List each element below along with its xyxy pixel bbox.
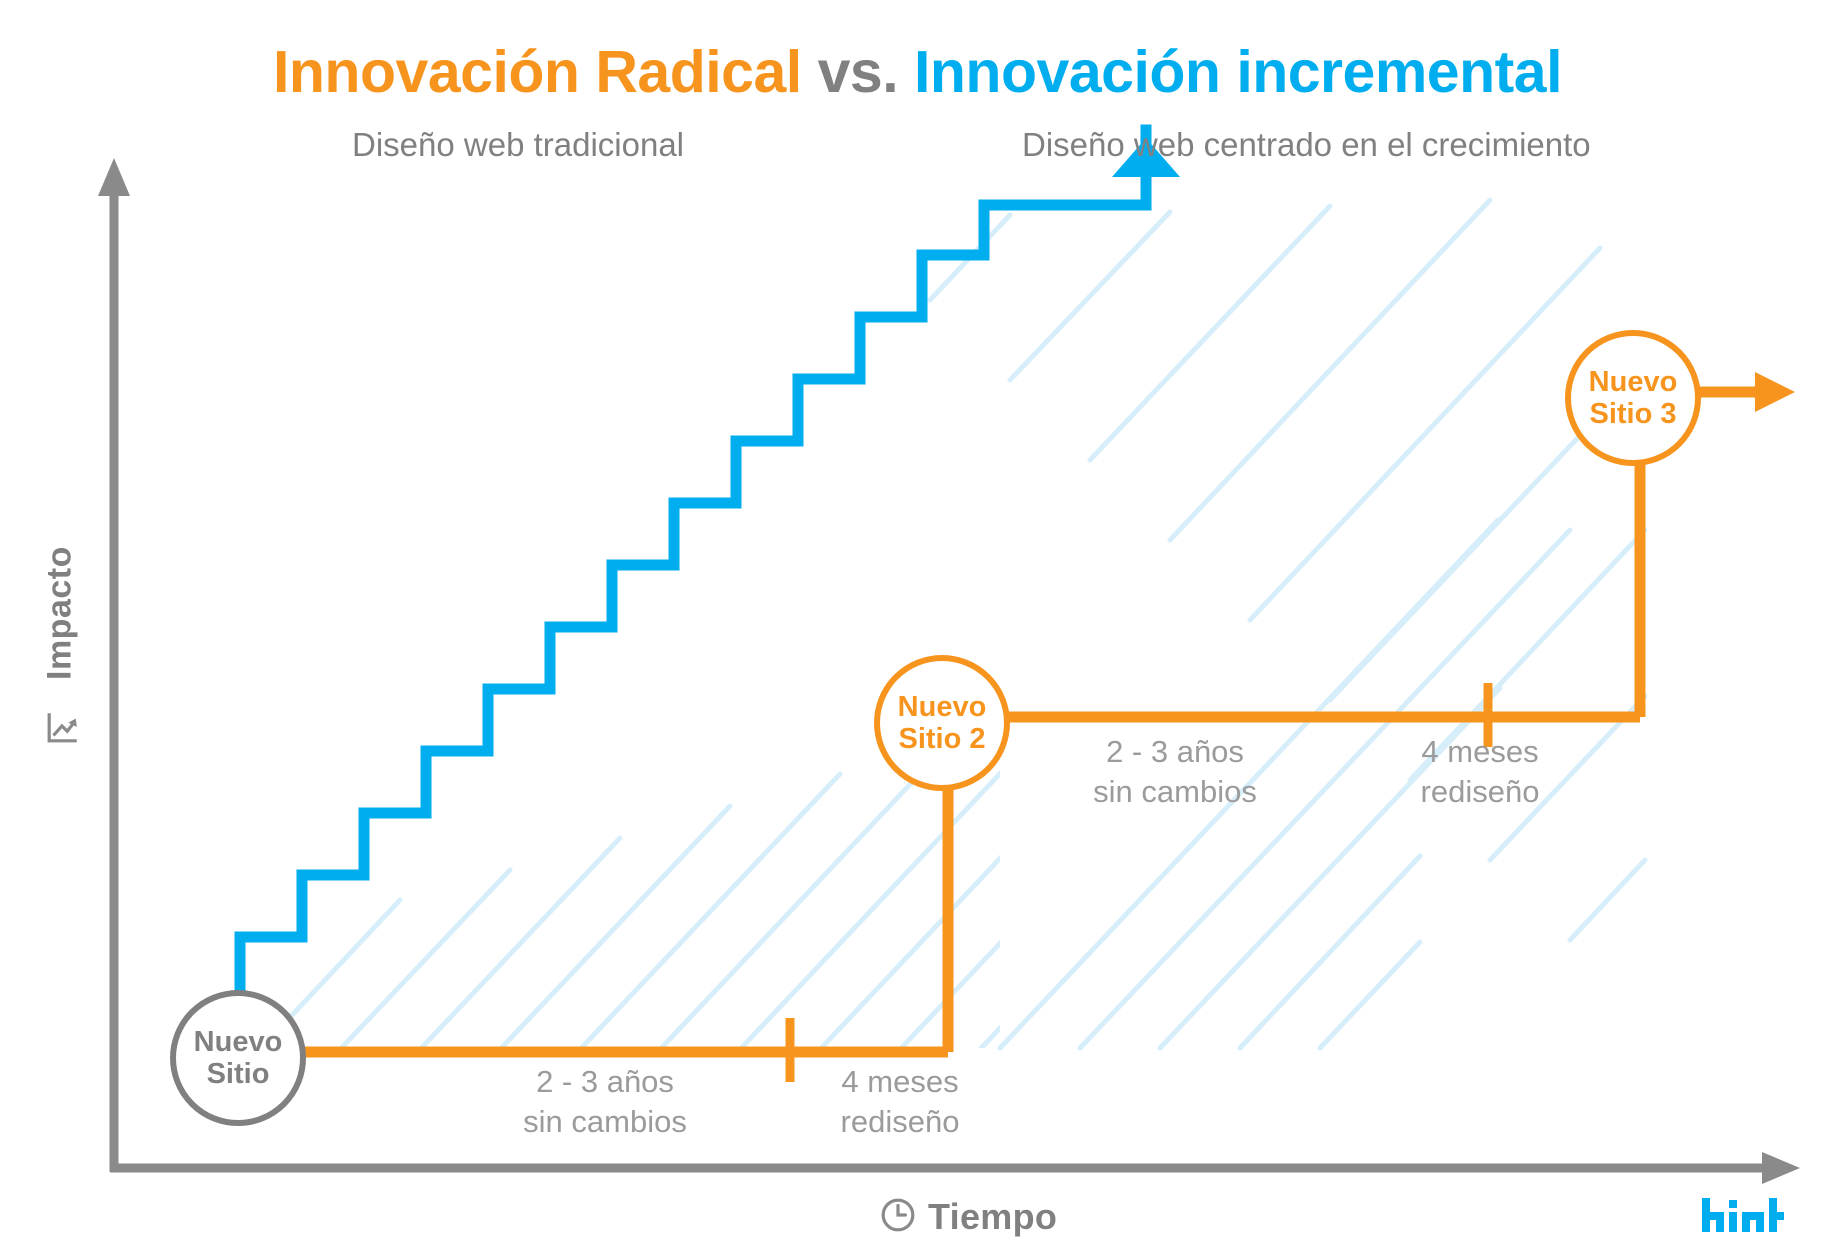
node-nuevo-sitio-2[interactable]: Nuevo Sitio 2	[874, 655, 1010, 791]
title-part-vs: vs.	[802, 39, 914, 105]
radical-step-path	[300, 392, 1760, 1052]
node-nuevo-sitio[interactable]: Nuevo Sitio	[170, 990, 306, 1126]
node-line-2: Sitio 2	[898, 723, 985, 755]
title-part-incremental: Innovación incremental	[914, 39, 1562, 105]
hatch-fill-upper	[930, 200, 1645, 1048]
node-line-1: Nuevo	[1589, 366, 1678, 398]
annotation-line-2: sin cambios	[1040, 772, 1310, 812]
annotation-redesign-1: 4 meses rediseño	[800, 1062, 1000, 1141]
radical-arrow-head	[1755, 372, 1795, 412]
infographic-canvas: Innovación Radical vs. Innovación increm…	[0, 0, 1835, 1260]
annotation-redesign-2: 4 meses rediseño	[1380, 732, 1580, 811]
annotation-no-changes-2: 2 - 3 años sin cambios	[1040, 732, 1310, 811]
annotation-line-1: 2 - 3 años	[470, 1062, 740, 1102]
annotation-line-1: 4 meses	[800, 1062, 1000, 1102]
chart-up-icon	[46, 710, 80, 744]
annotation-line-1: 4 meses	[1380, 732, 1580, 772]
subtitle-traditional: Diseño web tradicional	[352, 126, 684, 164]
annotation-line-1: 2 - 3 años	[1040, 732, 1310, 772]
annotation-no-changes-1: 2 - 3 años sin cambios	[470, 1062, 740, 1141]
node-nuevo-sitio-3[interactable]: Nuevo Sitio 3	[1565, 330, 1701, 466]
node-line-1: Nuevo	[898, 691, 987, 723]
x-axis-label: Tiempo	[928, 1196, 1057, 1238]
subtitle-growth-driven: Diseño web centrado en el crecimiento	[1022, 126, 1591, 164]
annotation-line-2: sin cambios	[470, 1102, 740, 1142]
clock-icon	[880, 1197, 916, 1238]
hint-logo[interactable]	[1700, 1198, 1784, 1238]
y-axis-label: Impacto	[34, 498, 86, 728]
annotation-line-2: rediseño	[1380, 772, 1580, 812]
node-line-2: Sitio 3	[1589, 398, 1676, 430]
hatch-fill	[250, 582, 1500, 1060]
annotation-line-2: rediseño	[800, 1102, 1000, 1142]
node-line-1: Nuevo	[194, 1026, 283, 1058]
title-part-radical: Innovación Radical	[273, 39, 802, 105]
node-line-2: Sitio	[207, 1058, 270, 1090]
x-axis-label-group: Tiempo	[880, 1196, 1057, 1238]
page-title: Innovación Radical vs. Innovación increm…	[0, 38, 1835, 106]
incremental-staircase	[240, 130, 1146, 1050]
